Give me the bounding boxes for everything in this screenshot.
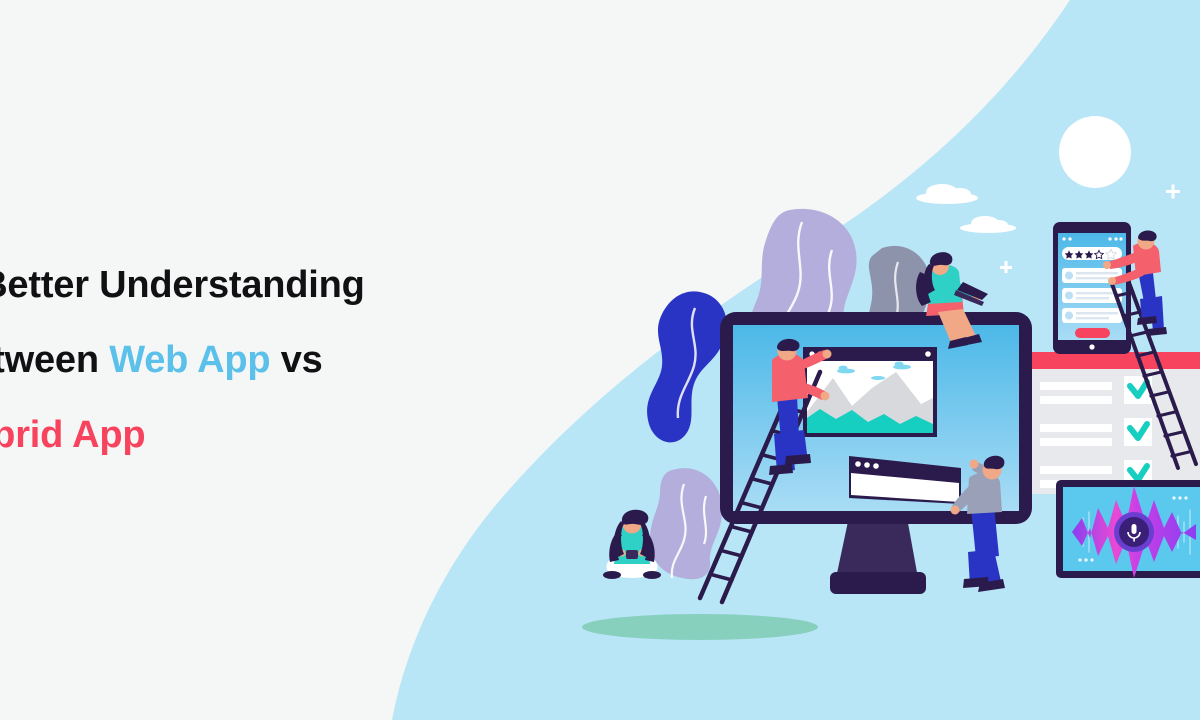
headline-line-2-before: Between (0, 339, 109, 381)
page-title: A Better Understanding Between Web App v… (0, 248, 564, 473)
person-sitting-phone (603, 510, 661, 579)
phone-list-row[interactable] (1062, 308, 1122, 323)
headline-line-2: Between Web App vs (0, 323, 564, 398)
headline-line-1: A Better Understanding (0, 248, 564, 323)
ground-shadow (582, 614, 818, 640)
headline-accent-hybrid-app: Hybrid App (0, 414, 145, 456)
navy-blob (647, 291, 727, 442)
hero-banner: A Better Understanding Between Web App v… (0, 0, 1200, 720)
checklist-card[interactable] (1032, 352, 1200, 494)
headline-line-3: Hybrid App (0, 398, 564, 473)
checklist-card-header (1032, 352, 1200, 369)
phone-home-button[interactable] (1089, 344, 1094, 349)
smartphone-rating[interactable] (1053, 222, 1131, 354)
voice-waveform-card[interactable] (1056, 480, 1200, 578)
headline-accent-web-app: Web App (109, 339, 270, 381)
headline-line-2-after: vs (270, 339, 322, 381)
phone-ok-button[interactable] (1075, 328, 1110, 338)
